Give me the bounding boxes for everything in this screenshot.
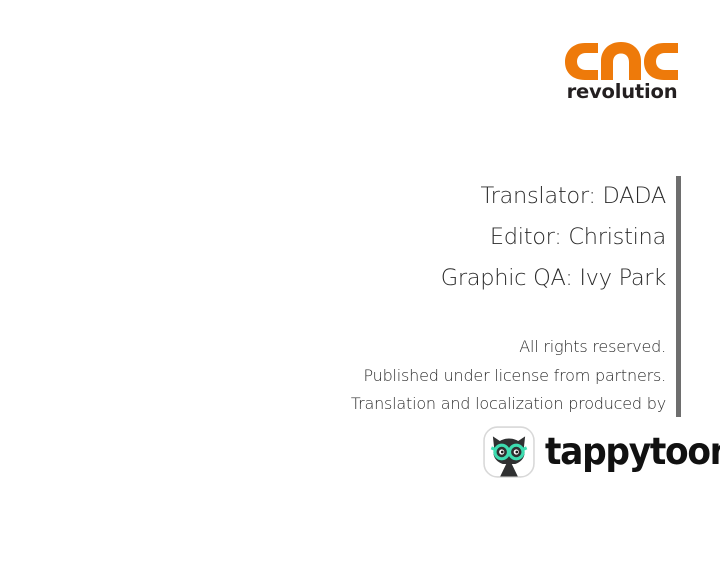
- tappytoon-logo: tappytoon: [483, 426, 720, 478]
- tappytoon-label: tappytoon: [545, 432, 720, 472]
- credits-page: revolution Translator: DADA Editor: Chri…: [0, 0, 720, 579]
- cnc-wordmark-icon: [563, 40, 681, 82]
- credits-block: Translator: DADA Editor: Christina Graph…: [300, 176, 666, 299]
- cnc-revolution-logo: revolution: [563, 40, 681, 105]
- credit-line-editor: Editor: Christina: [300, 217, 666, 258]
- legal-line-produced-by: Translation and localization produced by: [220, 390, 666, 419]
- cnc-revolution-label: revolution: [563, 81, 681, 103]
- tappytoon-cat-icon: [483, 426, 535, 478]
- credit-line-translator: Translator: DADA: [300, 176, 666, 217]
- credit-line-graphic-qa: Graphic QA: Ivy Park: [300, 258, 666, 299]
- vertical-divider: [676, 176, 681, 417]
- legal-block: All rights reserved. Published under lic…: [220, 333, 666, 419]
- legal-line-license: Published under license from partners.: [220, 362, 666, 391]
- legal-line-rights: All rights reserved.: [220, 333, 666, 362]
